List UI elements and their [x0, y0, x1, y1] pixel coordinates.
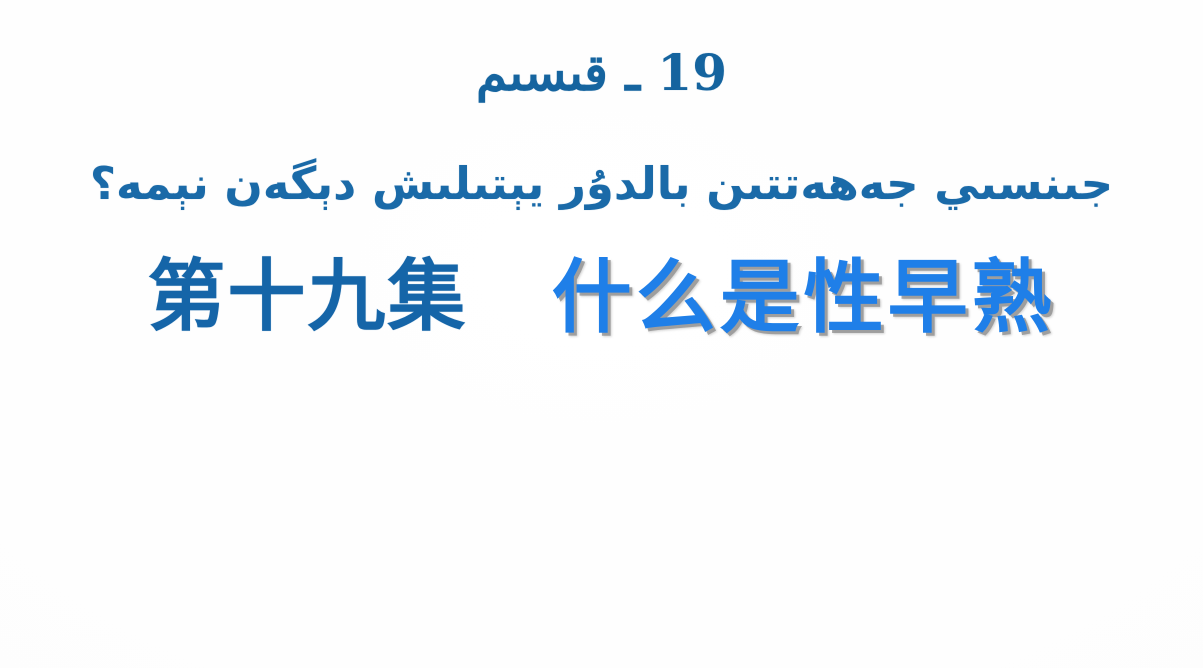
empty-lower-area — [0, 370, 1203, 668]
chinese-title-row: 第十九集 什么是性早熟 — [0, 252, 1203, 344]
chinese-topic-label: 什么是性早熟 — [552, 252, 1056, 344]
title-slide: 19 ـ قىسىم جىنسىي جەھەتتىن بالدۇر يېتىلى… — [0, 0, 1203, 668]
subtitle-row: جىنسىي جەھەتتىن بالدۇر يېتىلىش دېگەن نېم… — [0, 150, 1203, 218]
episode-heading-text: 19 ـ قىسىم — [476, 42, 727, 105]
chinese-title-spacer — [473, 298, 547, 299]
subtitle-question-text: جىنسىي جەھەتتىن بالدۇر يېتىلىش دېگەن نېم… — [90, 150, 1113, 218]
episode-heading-row: 19 ـ قىسىم — [0, 42, 1203, 105]
chinese-episode-label: 第十九集 — [147, 253, 467, 343]
